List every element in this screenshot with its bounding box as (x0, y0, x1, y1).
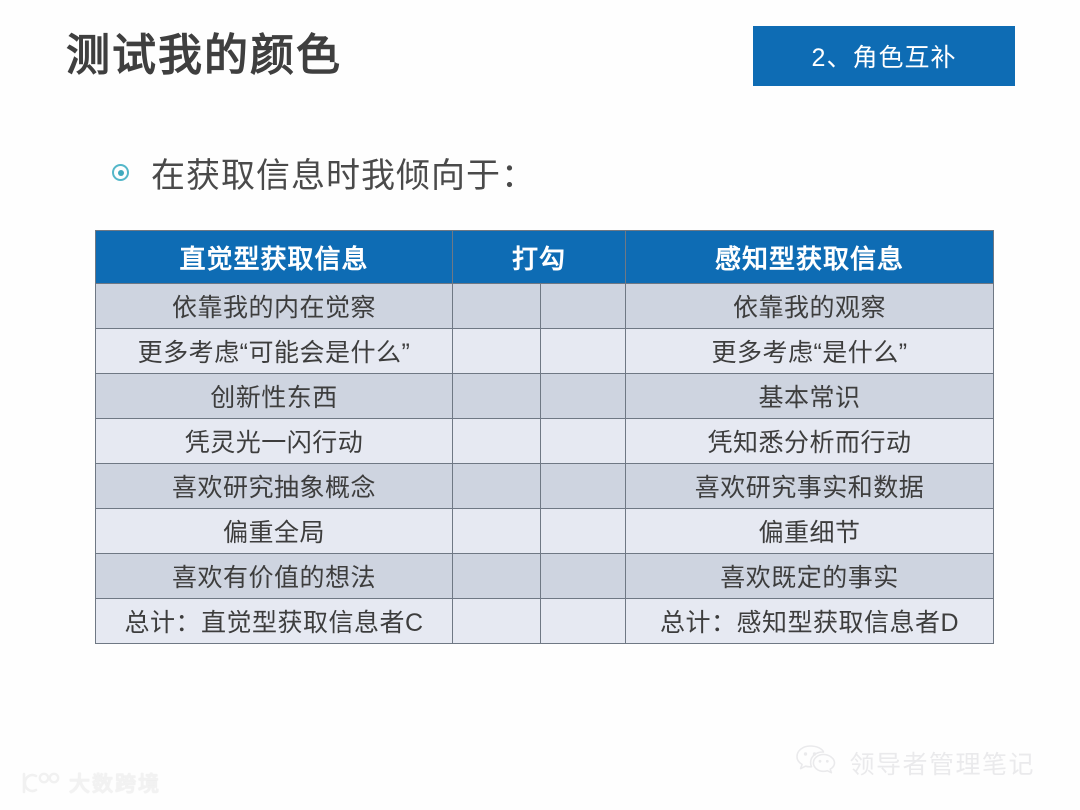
table-row: 创新性东西 基本常识 (96, 374, 994, 419)
cell-check-a[interactable] (453, 284, 541, 329)
cell-check-a[interactable] (453, 329, 541, 374)
cell-check-b[interactable] (541, 329, 626, 374)
column-header-intuitive: 直觉型获取信息 (96, 231, 453, 284)
section-badge-label: 2、角色互补 (812, 38, 957, 74)
cell-sensing: 偏重细节 (626, 509, 994, 554)
dashu-logo-icon (20, 770, 60, 796)
cell-check-b[interactable] (541, 509, 626, 554)
cell-check-a[interactable] (453, 599, 541, 644)
table-header-row: 直觉型获取信息 打勾 感知型获取信息 (96, 231, 994, 284)
assessment-table: 直觉型获取信息 打勾 感知型获取信息 依靠我的内在觉察 依靠我的观察 更多考虑“… (95, 230, 994, 644)
table-row: 更多考虑“可能会是什么” 更多考虑“是什么” (96, 329, 994, 374)
watermark-left: 大数跨境 (20, 768, 161, 798)
cell-sensing: 凭知悉分析而行动 (626, 419, 994, 464)
table-body: 依靠我的内在觉察 依靠我的观察 更多考虑“可能会是什么” 更多考虑“是什么” 创… (96, 284, 994, 644)
table-row: 喜欢有价值的想法 喜欢既定的事实 (96, 554, 994, 599)
cell-sensing: 更多考虑“是什么” (626, 329, 994, 374)
watermark-right: 领导者管理笔记 (795, 743, 1035, 782)
cell-intuitive: 依靠我的内在觉察 (96, 284, 453, 329)
bullet-dot-icon (112, 164, 129, 181)
wechat-icon (795, 743, 837, 782)
cell-sensing: 基本常识 (626, 374, 994, 419)
cell-intuitive: 喜欢研究抽象概念 (96, 464, 453, 509)
cell-check-b[interactable] (541, 464, 626, 509)
cell-sensing: 喜欢研究事实和数据 (626, 464, 994, 509)
table-header: 直觉型获取信息 打勾 感知型获取信息 (96, 231, 994, 284)
cell-total-sensing: 总计：感知型获取信息者D (626, 599, 994, 644)
cell-check-b[interactable] (541, 554, 626, 599)
cell-intuitive: 更多考虑“可能会是什么” (96, 329, 453, 374)
cell-check-b[interactable] (541, 599, 626, 644)
cell-intuitive: 凭灵光一闪行动 (96, 419, 453, 464)
cell-sensing: 依靠我的观察 (626, 284, 994, 329)
cell-intuitive: 偏重全局 (96, 509, 453, 554)
section-badge: 2、角色互补 (753, 26, 1015, 86)
table-row-total: 总计：直觉型获取信息者C 总计：感知型获取信息者D (96, 599, 994, 644)
cell-check-a[interactable] (453, 464, 541, 509)
column-header-sensing: 感知型获取信息 (626, 231, 994, 284)
cell-intuitive: 喜欢有价值的想法 (96, 554, 453, 599)
column-header-checkmark: 打勾 (453, 231, 626, 284)
cell-sensing: 喜欢既定的事实 (626, 554, 994, 599)
cell-check-b[interactable] (541, 284, 626, 329)
cell-check-b[interactable] (541, 419, 626, 464)
cell-check-b[interactable] (541, 374, 626, 419)
assessment-table-container: 直觉型获取信息 打勾 感知型获取信息 依靠我的内在觉察 依靠我的观察 更多考虑“… (95, 230, 993, 644)
cell-check-a[interactable] (453, 554, 541, 599)
table-row: 偏重全局 偏重细节 (96, 509, 994, 554)
table-row: 喜欢研究抽象概念 喜欢研究事实和数据 (96, 464, 994, 509)
cell-check-a[interactable] (453, 509, 541, 554)
cell-total-intuitive: 总计：直觉型获取信息者C (96, 599, 453, 644)
cell-check-a[interactable] (453, 374, 541, 419)
table-row: 依靠我的内在觉察 依靠我的观察 (96, 284, 994, 329)
watermark-right-label: 领导者管理笔记 (849, 745, 1035, 781)
cell-check-a[interactable] (453, 419, 541, 464)
cell-intuitive: 创新性东西 (96, 374, 453, 419)
page-title: 测试我的颜色 (66, 30, 342, 83)
bullet-label: 在获取信息时我倾向于： (151, 148, 536, 197)
table-row: 凭灵光一闪行动 凭知悉分析而行动 (96, 419, 994, 464)
watermark-left-label: 大数跨境 (69, 768, 161, 798)
slide-canvas: 测试我的颜色 2、角色互补 在获取信息时我倾向于： 直觉型获取信息 打勾 感知型… (0, 0, 1080, 810)
bullet-line: 在获取信息时我倾向于： (112, 148, 536, 197)
